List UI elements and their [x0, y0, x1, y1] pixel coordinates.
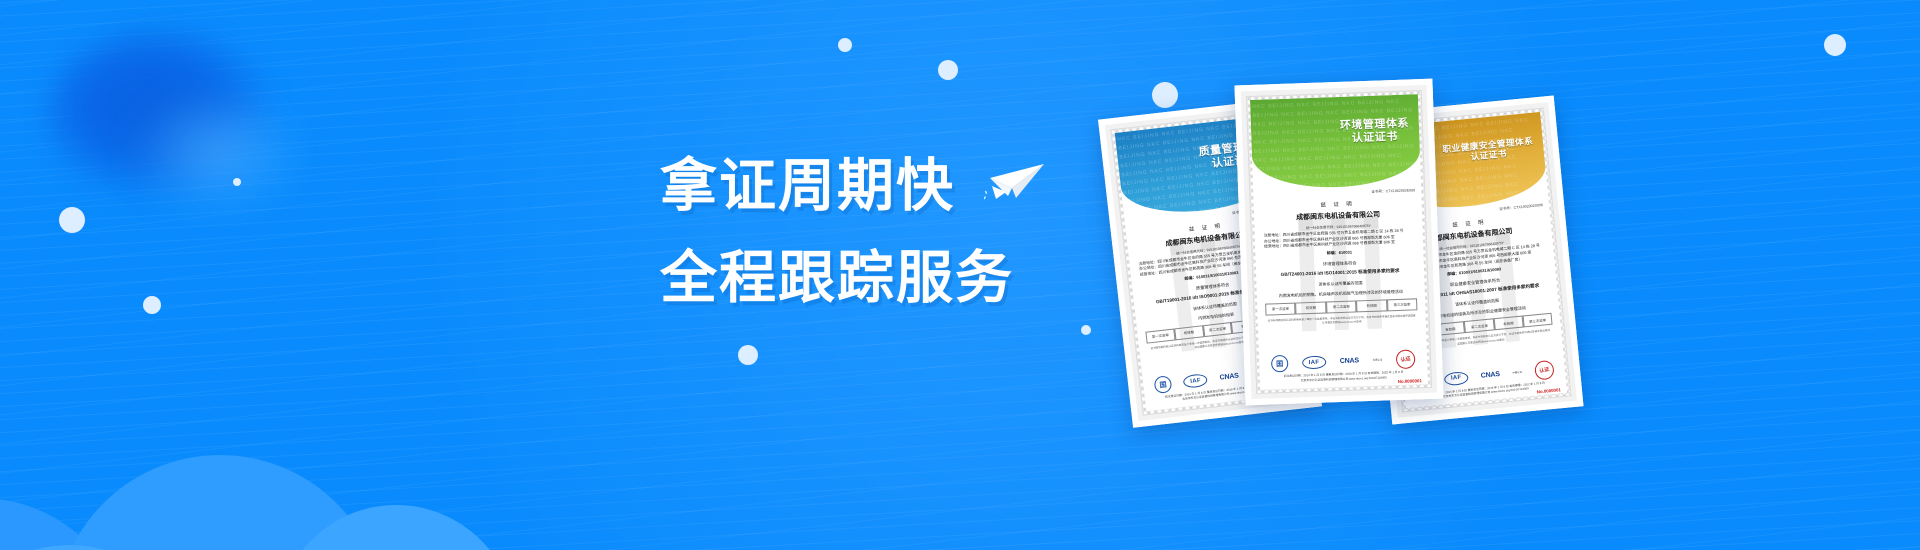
cnca-seal-icon: 囯 [1271, 353, 1289, 374]
decorative-dot [1824, 34, 1846, 56]
certificate-review-cell: 第二次监审 [1326, 300, 1357, 313]
iaf-seal-icon: IAF [1183, 370, 1209, 393]
certificate-title-line-2: 认证证书 [1340, 131, 1409, 146]
red-stamp-icon: 认证 [1396, 349, 1416, 371]
headline-block: 拿证周期快 全程跟踪服务 [660, 140, 1014, 324]
certificate-review-cell: 有效期 [1295, 301, 1326, 314]
certificate-review-cell: 第一次监审 [1265, 303, 1296, 316]
decorative-dot [233, 178, 241, 186]
cnas-seal-icon: CNAS [1219, 366, 1240, 388]
certificate-review-cell: 第三次监审 [1387, 298, 1418, 311]
certificate-review-cell: 第三次监审 [1522, 313, 1552, 328]
decorative-dot [59, 207, 85, 233]
headline-line-2: 全程跟踪服务 [660, 232, 1014, 324]
decorative-dot [143, 296, 161, 314]
certificate-body: 证书号：CTX1062002E006兹 证 明成都闽东电机设备有限公司统一社会信… [1253, 184, 1427, 352]
certificate-review-cell: 有效期 [1356, 299, 1387, 312]
certificate-number: No.0000001 [1537, 387, 1562, 394]
certificate-header: NKC BEIJING NKC BEIJING NKC BEIJING NKC … [1250, 94, 1421, 190]
certificate-card-environment[interactable]: NKC BEIJING NKC BEIJING NKC BEIJING NKC … [1234, 79, 1443, 406]
accreditation-note: 中国认证 [1511, 362, 1522, 383]
iaf-seal-icon: IAF [1302, 352, 1327, 374]
red-stamp-icon: 认证 [1534, 359, 1555, 381]
decorative-dot [938, 60, 958, 80]
accreditation-note: 中国认证 [1372, 350, 1382, 371]
decorative-dot [1081, 325, 1091, 335]
certificate-review-cell: 第一次监审 [1145, 328, 1175, 343]
background-blob-light [128, 88, 308, 218]
promo-banner: 拿证周期快 全程跟踪服务 NKC BEIJING NKC BEIJING NKC… [0, 0, 1920, 550]
cnca-seal-icon: 囯 [1154, 374, 1173, 396]
cnas-seal-icon: CNAS [1340, 351, 1360, 373]
certificate-footer: 囯IAFCNAS中国认证认证初次发证日期：2014 年 1 月 8 日 重新发证… [1259, 346, 1428, 390]
headline-line-1: 拿证周期快 [660, 140, 1014, 232]
certificate-number: No.0000001 [1398, 378, 1422, 384]
certificate-title: 环境管理体系认证证书 [1340, 118, 1410, 146]
certificate-review-cell: 有效期 [1493, 316, 1523, 331]
iaf-seal-icon: IAF [1443, 367, 1469, 389]
certificate-page: NKC BEIJING NKC BEIJING NKC BEIJING NKC … [1250, 94, 1428, 390]
decorative-dot [838, 38, 852, 52]
paper-plane-icon [984, 152, 1056, 210]
cnas-seal-icon: CNAS [1480, 364, 1501, 386]
certificate-group: NKC BEIJING NKC BEIJING NKC BEIJING NKC … [1115, 60, 1675, 490]
decorative-dot [738, 345, 758, 365]
